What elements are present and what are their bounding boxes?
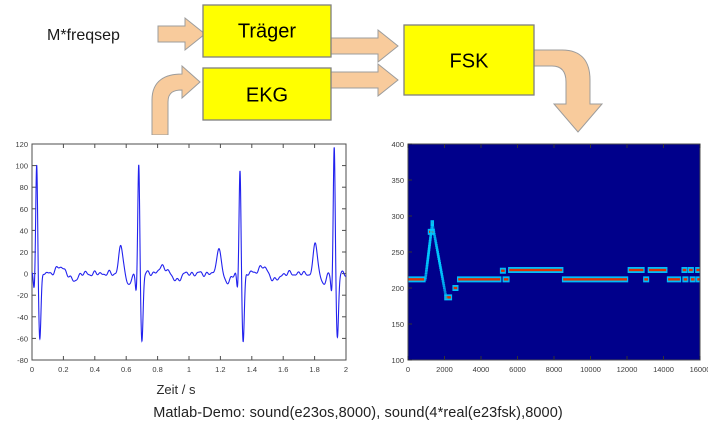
ekg-xtick-label: 1.8 bbox=[309, 365, 319, 374]
spectrogram-chirp-dot bbox=[431, 224, 434, 227]
block-ekg-label: EKG bbox=[246, 84, 288, 106]
spectrogram-chirp-dot bbox=[433, 233, 436, 236]
spectrogram-chirp-dot bbox=[439, 266, 442, 269]
spectrogram-chirp-dot bbox=[443, 289, 446, 292]
spectrogram-ridge-core bbox=[501, 270, 505, 272]
spectrogram-chirp-dot bbox=[440, 269, 443, 272]
ekg-xtick-label: 0.2 bbox=[58, 365, 68, 374]
spectrogram-chirp-dot bbox=[440, 271, 443, 274]
caption-text: Matlab-Demo: sound(e23os,8000), sound(4*… bbox=[0, 405, 716, 421]
ekg-xaxis-title: Zeit / s bbox=[156, 382, 196, 397]
arrow-fsk-output bbox=[533, 50, 602, 132]
spec-xtick-label: 4000 bbox=[473, 365, 490, 374]
spectrogram-chirp-dot bbox=[436, 251, 439, 254]
ekg-ytick-label: 120 bbox=[15, 140, 28, 149]
spectrogram-chirp-dot bbox=[445, 295, 448, 298]
spectrogram-chirp-dot bbox=[443, 286, 446, 289]
block-traeger[interactable]: Träger bbox=[203, 5, 331, 57]
spectrogram-ridge-core bbox=[684, 278, 688, 280]
ekg-xtick-label: 1 bbox=[187, 365, 191, 374]
spectrogram-chirp-dot bbox=[440, 273, 443, 276]
spec-xtick-label: 10000 bbox=[580, 365, 601, 374]
block-ekg[interactable]: EKG bbox=[203, 68, 331, 120]
spec-xtick-label: 6000 bbox=[509, 365, 526, 374]
spectrogram-chirp-dot bbox=[434, 237, 437, 240]
ekg-ytick-label: -40 bbox=[17, 313, 28, 322]
spec-xtick-label: 0 bbox=[406, 365, 410, 374]
spectrogram-chirp-dot bbox=[434, 240, 437, 243]
spectrogram-chirp-dot bbox=[439, 264, 442, 267]
spec-xtick-label: 2000 bbox=[436, 365, 453, 374]
ekg-ytick-label: 100 bbox=[15, 162, 28, 171]
spectrogram-chirp-dot bbox=[444, 293, 447, 296]
spectrogram-chirp-dot bbox=[436, 249, 439, 252]
spec-ytick-label: 350 bbox=[391, 176, 404, 185]
spectrogram-ridge-core bbox=[563, 278, 627, 280]
spectrogram-chirp-dot bbox=[438, 262, 441, 265]
spectrogram-ridge-core bbox=[696, 269, 700, 271]
spectrogram-ridge-core bbox=[644, 278, 648, 280]
block-diagram: M*freqsep Träger EKG bbox=[0, 0, 716, 135]
spec-xtick-label: 8000 bbox=[546, 365, 563, 374]
spectrogram-ridge-core bbox=[509, 269, 562, 271]
ekg-xtick-label: 0.4 bbox=[90, 365, 100, 374]
ekg-ytick-label: 20 bbox=[20, 248, 28, 257]
spectrogram-chirp-dot bbox=[443, 284, 446, 287]
spectrogram-ridge-core bbox=[629, 269, 644, 271]
ekg-xtick-label: 1.4 bbox=[247, 365, 257, 374]
spectrogram-ridge-core bbox=[504, 278, 509, 280]
slide-canvas: M*freqsep Träger EKG bbox=[0, 0, 716, 441]
spectrogram-chirp-dot bbox=[445, 298, 448, 301]
spectrogram-ridge-core bbox=[683, 269, 687, 271]
ekg-xtick-label: 0.8 bbox=[152, 365, 162, 374]
spectrogram-background bbox=[408, 144, 700, 360]
spec-xtick-label: 12000 bbox=[617, 365, 638, 374]
block-fsk[interactable]: FSK bbox=[404, 25, 534, 95]
spectrogram-chirp-dot bbox=[438, 260, 441, 263]
spectrogram-chirp-dot bbox=[442, 282, 445, 285]
ekg-xtick-label: 0.6 bbox=[121, 365, 131, 374]
spectrogram-chirp-dot bbox=[436, 246, 439, 249]
spec-ytick-label: 100 bbox=[391, 356, 404, 365]
ekg-ytick-label: 0 bbox=[24, 270, 28, 279]
ekg-xtick-label: 0 bbox=[30, 365, 34, 374]
block-traeger-label: Träger bbox=[238, 20, 297, 42]
spectrogram-ridge-core bbox=[668, 278, 680, 280]
spectrogram-ridge-core bbox=[454, 287, 458, 289]
spectrogram-chirp-dot bbox=[433, 231, 436, 234]
arrow-freqsep-to-traeger bbox=[158, 18, 205, 50]
spec-ytick-label: 200 bbox=[391, 284, 404, 293]
spec-ytick-label: 250 bbox=[391, 248, 404, 257]
spec-ytick-label: 400 bbox=[391, 140, 404, 149]
ekg-ytick-label: 80 bbox=[20, 183, 28, 192]
arrow-ekg-to-fsk bbox=[330, 64, 398, 96]
input-label-freqsep: M*freqsep bbox=[47, 27, 120, 44]
ekg-ytick-label: 60 bbox=[20, 205, 28, 214]
spectrogram-chirp-dot bbox=[442, 280, 445, 283]
spectrogram-chirp-dot bbox=[441, 277, 444, 280]
spectrogram-ridge-core bbox=[691, 278, 695, 280]
ekg-xtick-label: 1.2 bbox=[215, 365, 225, 374]
ekg-ytick-label: -20 bbox=[17, 291, 28, 300]
chart-ekg-timeseries[interactable]: 00.20.40.60.811.21.41.61.82-80-60-40-200… bbox=[4, 138, 360, 400]
spectrogram-chirp-dot bbox=[435, 244, 438, 247]
ekg-ytick-label: -60 bbox=[17, 334, 28, 343]
spectrogram-chirp-dot bbox=[433, 235, 436, 238]
spectrogram-chirp-dot bbox=[432, 229, 435, 232]
block-fsk-label: FSK bbox=[450, 50, 490, 72]
spectrogram-chirp-dot bbox=[431, 222, 434, 225]
spec-xtick-label: 14000 bbox=[653, 365, 674, 374]
spectrogram-chirp-dot bbox=[444, 291, 447, 294]
ekg-xtick-label: 1.6 bbox=[278, 365, 288, 374]
spectrogram-chirp-dot bbox=[437, 253, 440, 256]
ekg-ytick-label: -80 bbox=[17, 356, 28, 365]
arrow-traeger-to-fsk bbox=[330, 30, 398, 62]
spectrogram-ridge-core bbox=[458, 278, 500, 280]
arrow-feedback-to-ekg bbox=[152, 66, 200, 135]
chart-fsk-spectrogram[interactable]: 0200040006000800010000120001400016000100… bbox=[376, 138, 708, 400]
spectrogram-ridge-core bbox=[408, 278, 424, 280]
spectrogram-chirp-dot bbox=[438, 257, 441, 260]
spectrogram-chirp-dot bbox=[432, 226, 435, 229]
spectrogram-ridge-core bbox=[649, 269, 666, 271]
spectrogram-chirp-dot bbox=[437, 255, 440, 258]
spec-ytick-label: 150 bbox=[391, 320, 404, 329]
spectrogram-chirp-dot bbox=[441, 275, 444, 278]
spec-xtick-label: 16000 bbox=[690, 365, 708, 374]
spectrogram-ridge-core bbox=[689, 269, 693, 271]
spectrogram-chirp-dot bbox=[435, 242, 438, 245]
spec-ytick-label: 300 bbox=[391, 212, 404, 221]
ekg-xtick-label: 2 bbox=[344, 365, 348, 374]
ekg-ytick-label: 40 bbox=[20, 226, 28, 235]
